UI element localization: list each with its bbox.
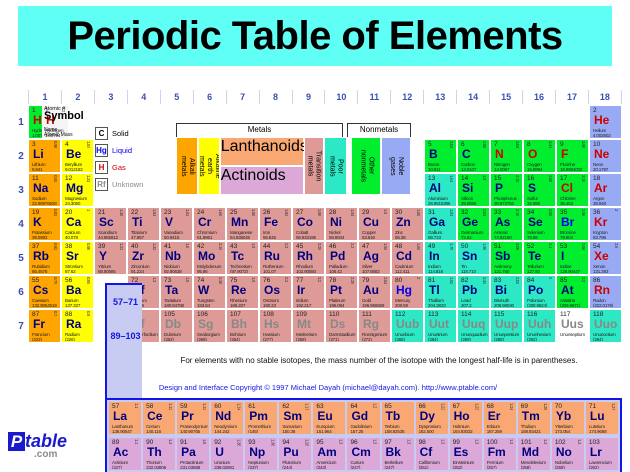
element-mass: 83.798 xyxy=(593,235,606,240)
element-cell-Ce[interactable]: 581.12CeCerium140.116 xyxy=(143,402,175,434)
fblock-slot: 601.14NdNeodymium144.242 xyxy=(210,401,244,435)
ptable-logo[interactable]: P table .com xyxy=(8,430,98,464)
period-number-6[interactable]: 6 xyxy=(14,275,28,309)
element-symbol: Ds xyxy=(330,318,345,331)
element-symbol: Cs xyxy=(33,284,48,297)
legend-swatch-other-nonmetals[interactable]: Other nonmetals xyxy=(351,137,381,195)
legend-swatch-noble-gases[interactable]: Noble gases xyxy=(381,137,411,195)
grid-slot: 342.55SeSelenium78.96 xyxy=(523,207,556,241)
legend-swatch-lanth-actin-group: Lanthanoids Actinoids xyxy=(220,137,304,195)
period-number-1[interactable]: 1 xyxy=(14,105,28,139)
element-cell-Te[interactable]: 522.1TeTellurium127.60 xyxy=(524,242,555,274)
element-cell-Bk[interactable]: 971.3BkBerkelium(247) xyxy=(382,438,414,470)
element-cell-W[interactable]: 742.36WTungsten183.84 xyxy=(194,276,225,308)
element-symbol: Tb xyxy=(386,410,401,423)
element-electronegativity: 1.3 xyxy=(543,439,548,444)
element-symbol: Uus xyxy=(561,318,584,331)
element-symbol: Cf xyxy=(420,446,433,459)
element-mass: (294) xyxy=(593,337,603,342)
element-cell-Se[interactable]: 342.55SeSelenium78.96 xyxy=(524,208,555,240)
element-cell-Dy[interactable]: 661.22DyDysprosium162.500 xyxy=(416,402,448,434)
element-symbol: U xyxy=(215,446,224,459)
element-cell-Kr[interactable]: 363KrKrypton83.798 xyxy=(590,208,621,240)
element-cell-Xe[interactable]: 542.6XeXenon131.293 xyxy=(590,242,621,274)
element-cell-Tb[interactable]: 65TbTerbium158.92535 xyxy=(382,402,414,434)
grid-slot: 370.82RbRubidium85.4678 xyxy=(28,241,61,275)
element-cell-Fr[interactable]: 870.7FrFrancium(223) xyxy=(29,310,60,342)
element-mass: (257) xyxy=(487,465,497,470)
element-symbol: Ag xyxy=(363,250,379,263)
element-symbol: Sm xyxy=(283,410,302,423)
element-cell-P[interactable]: 152.19PPhosphorus30.973762 xyxy=(491,174,522,206)
element-cell-Be[interactable]: 41.57BeBeryllium9.012182 xyxy=(62,140,93,172)
element-cell-Mo[interactable]: 422.16MoMolybdenum95.96 xyxy=(194,242,225,274)
element-symbol: Ti xyxy=(132,216,142,229)
state-legend-row-liquid[interactable]: HgLiquid xyxy=(95,142,157,159)
element-mass: 63.546 xyxy=(362,235,375,240)
element-cell-Db[interactable]: 105DbDubnium(262) xyxy=(161,310,192,342)
element-cell-Sb[interactable]: 512.05SbAntimony121.760 xyxy=(491,242,522,274)
element-electronegativity: 1.6 xyxy=(185,243,190,248)
element-cell-Tl[interactable]: 811.62TlThallium204.3833 xyxy=(425,276,456,308)
period-number-7[interactable]: 7 xyxy=(14,309,28,343)
grid-slot: 115UupUnunpentium(288) xyxy=(490,309,523,343)
element-cell-Pb[interactable]: 822.33PbLead207.2 xyxy=(458,276,489,308)
fblock-slot: 711.27LuLutetium174.9668 xyxy=(585,401,619,435)
element-cell-Uut[interactable]: 113UutUnuntrium(284) xyxy=(425,310,456,342)
element-cell-Br[interactable]: 352.96BrBromine79.904 xyxy=(557,208,588,240)
element-electronegativity: 1.23 xyxy=(475,403,480,410)
element-cell-Rb[interactable]: 370.82RbRubidium85.4678 xyxy=(29,242,60,274)
group-number-1[interactable]: 1 xyxy=(28,90,61,104)
element-electronegativity: 1.17 xyxy=(304,403,309,410)
element-cell-Ag[interactable]: 471.93AgSilver107.8682 xyxy=(359,242,390,274)
legend-swatch-alkali-metals[interactable]: Alkali metals xyxy=(176,137,198,195)
element-cell-Er[interactable]: 681.24ErErbium167.259 xyxy=(484,402,516,434)
element-electronegativity: 3.16 xyxy=(581,175,586,182)
element-mass: 91.224 xyxy=(131,269,144,274)
grid-slot: 560.89BaBarium137.327 xyxy=(61,275,94,309)
element-electronegativity: 2 xyxy=(548,277,553,279)
element-cell-Uub[interactable]: 112UubUnunbium(285) xyxy=(392,310,423,342)
fblock-slot: 941.28PuPlutonium(244) xyxy=(278,437,312,471)
metals-header: Metals xyxy=(176,123,343,137)
element-cell-Rh[interactable]: 452.28RhRhodium102.90550 xyxy=(293,242,324,274)
category-legend-swatches: Alkali metals Alkaline earth metals Lant… xyxy=(176,137,411,195)
element-cell-Na[interactable]: 110.93NaSodium22.98976928 xyxy=(29,174,60,206)
grid-slot: 462.2PdPalladium106.42 xyxy=(325,241,358,275)
element-cell-As[interactable]: 332.18AsArsenic74.92160 xyxy=(491,208,522,240)
fblock-slot: 671.23HoHolmium164.93032 xyxy=(449,401,483,435)
element-electronegativity: 1.9 xyxy=(251,277,256,282)
element-cell-Ba[interactable]: 560.89BaBarium137.327 xyxy=(62,276,93,308)
grid-slot: 105DbDubnium(262) xyxy=(160,309,193,343)
grid-slot: 221.54TiTitanium47.867 xyxy=(127,207,160,241)
element-cell-Bi[interactable]: 832.02BiBismuth208.98040 xyxy=(491,276,522,308)
element-symbol: Re xyxy=(231,284,246,297)
element-symbol: Pm xyxy=(249,410,268,423)
fblock-slot: 661.22DyDysprosium162.500 xyxy=(415,401,449,435)
empty-cell xyxy=(425,106,456,138)
legend-swatch-lanthanoids[interactable]: Lanthanoids xyxy=(220,137,304,166)
element-cell-Ti[interactable]: 221.54TiTitanium47.867 xyxy=(128,208,159,240)
element-mass: (227) xyxy=(112,465,122,470)
element-cell-Si[interactable]: 141.9SiSilicon28.0855 xyxy=(458,174,489,206)
fblock-slot: 61PmPromethium(145) xyxy=(244,401,278,435)
element-cell-Fe[interactable]: 261.83FeIron55.845 xyxy=(260,208,291,240)
element-electronegativity: 1.22 xyxy=(441,403,446,410)
period-row-4: 4190.82KPotassium39.0983201CaCalcium40.0… xyxy=(14,207,622,241)
element-cell-Co[interactable]: 271.88CoCobalt58.933195 xyxy=(293,208,324,240)
group-number-11[interactable]: 11 xyxy=(357,90,390,104)
fblock-slot: 571.1LaLanthanum138.90547 xyxy=(108,401,142,435)
element-mass: 39.948 xyxy=(593,201,606,206)
element-cell-Cd[interactable]: 481.69CdCadmium112.411 xyxy=(392,242,423,274)
group-number-14[interactable]: 14 xyxy=(456,90,489,104)
element-mass: 22.98976928 xyxy=(32,201,57,206)
element-electronegativity: 1.62 xyxy=(449,277,454,284)
element-mass: (244) xyxy=(282,465,292,470)
state-legend-row-unknown[interactable]: RfUnknown xyxy=(95,176,157,193)
element-cell-Tm[interactable]: 691.25TmThulium168.93421 xyxy=(518,402,550,434)
group-number-6[interactable]: 6 xyxy=(193,90,226,104)
element-mass: 102.90550 xyxy=(296,269,316,274)
element-symbol: Br xyxy=(561,216,574,229)
element-symbol: Pr xyxy=(181,410,194,423)
element-electronegativity: 0.9 xyxy=(86,311,91,316)
element-cell-Sm[interactable]: 621.17SmSamarium150.36 xyxy=(279,402,311,434)
grid-slot: 802HgMercury200.59 xyxy=(391,275,424,309)
grid-slot: 792.54AuGold196.966569 xyxy=(358,275,391,309)
element-cell-Ca[interactable]: 201CaCalcium40.078 xyxy=(62,208,93,240)
element-electronegativity: 1.36 xyxy=(270,439,275,446)
grid-slot: 411.6NbNiobium92.90638 xyxy=(160,241,193,275)
element-cell-Sc[interactable]: 211.36ScScandium44.955912 xyxy=(95,208,126,240)
element-cell-Zn[interactable]: 301.65ZnZinc65.38 xyxy=(392,208,423,240)
element-cell-Nd[interactable]: 601.14NdNeodymium144.242 xyxy=(211,402,243,434)
element-cell-Hg[interactable]: 802HgMercury200.59 xyxy=(392,276,423,308)
element-cell-Au[interactable]: 792.54AuGold196.966569 xyxy=(359,276,390,308)
group-number-16[interactable]: 16 xyxy=(522,90,555,104)
grid-slot: 281.91NiNickel58.6934 xyxy=(325,207,358,241)
element-cell-Pd[interactable]: 462.2PdPalladium106.42 xyxy=(326,242,357,274)
element-symbol: Rg xyxy=(363,318,379,331)
element-cell-U[interactable]: 921.38UUranium238.02891 xyxy=(211,438,243,470)
element-cell-Pu[interactable]: 941.28PuPlutonium(244) xyxy=(279,438,311,470)
element-electronegativity: 1.38 xyxy=(236,439,241,446)
grid-slot: 261.83FeIron55.845 xyxy=(259,207,292,241)
group-number-12[interactable]: 12 xyxy=(390,90,423,104)
element-cell-Y[interactable]: 391.22YYttrium88.90585 xyxy=(95,242,126,274)
element-symbol: Be xyxy=(66,148,81,161)
element-cell-Ne[interactable]: 10NeNeon20.1797 xyxy=(590,140,621,172)
element-cell-Nb[interactable]: 411.6NbNiobium92.90638 xyxy=(161,242,192,274)
element-cell-Np[interactable]: 931.36NpNeptunium(237) xyxy=(245,438,277,470)
element-cell-F[interactable]: 93.98FFluorine18.9984032 xyxy=(557,140,588,172)
element-cell-Ni[interactable]: 281.91NiNickel58.6934 xyxy=(326,208,357,240)
element-cell-Po[interactable]: 842PoPolonium(208.9824) xyxy=(524,276,555,308)
element-cell-N[interactable]: 73.04NNitrogen14.0067 xyxy=(491,140,522,172)
element-mass: 24.3050 xyxy=(65,201,80,206)
grid-slot: 842PoPolonium(208.9824) xyxy=(523,275,556,309)
grid-slot: 291.9CuCopper63.546 xyxy=(358,207,391,241)
element-cell-C[interactable]: 62.55CCarbon12.0107 xyxy=(458,140,489,172)
element-cell-Re[interactable]: 751.9ReRhenium186.207 xyxy=(227,276,258,308)
group-number-13[interactable]: 13 xyxy=(423,90,456,104)
legend-swatch-poor-metals[interactable]: Poor metals xyxy=(324,137,348,195)
element-cell-Uup[interactable]: 115UupUnunpentium(288) xyxy=(491,310,522,342)
element-cell-Ra[interactable]: 880.9RaRadium(226) xyxy=(62,310,93,342)
period-number-4[interactable]: 4 xyxy=(14,207,28,241)
period-number-3[interactable]: 3 xyxy=(14,173,28,207)
element-symbol: Pd xyxy=(330,250,345,263)
element-mass: 15.9994 xyxy=(527,167,542,172)
element-electronegativity: 0.89 xyxy=(86,277,91,284)
element-cell-Uuo[interactable]: 118UuoUnunoctium(294) xyxy=(590,310,621,342)
element-cell-Lr[interactable]: 103LrLawrencium(262) xyxy=(586,438,618,470)
element-symbol: Rn xyxy=(594,284,610,297)
empty-cell xyxy=(491,106,522,138)
period-number-2[interactable]: 2 xyxy=(14,139,28,173)
grid-slot: 73.04NNitrogen14.0067 xyxy=(490,139,523,173)
element-cell-Ho[interactable]: 671.23HoHolmium164.93032 xyxy=(450,402,482,434)
grid-slot: 731.5TaTantalum180.94788 xyxy=(160,275,193,309)
element-mass: (208.9824) xyxy=(527,303,547,308)
element-electronegativity: 2.33 xyxy=(482,277,487,284)
element-cell-Md[interactable]: 1011.3MdMendelevium(258) xyxy=(518,438,550,470)
element-symbol: Fr xyxy=(33,318,45,331)
element-cell-Al[interactable]: 131.61AlAluminium26.9815386 xyxy=(425,174,456,206)
element-electronegativity: 1.14 xyxy=(236,403,241,410)
element-electronegativity: 2.2 xyxy=(284,277,289,282)
element-cell-Gd[interactable]: 641.2GdGadolinium157.25 xyxy=(347,402,379,434)
element-cell-Es[interactable]: 991.3EsEinsteinium(252) xyxy=(450,438,482,470)
element-cell-O[interactable]: 83.44OOxygen15.9994 xyxy=(524,140,555,172)
state-legend-row-solid[interactable]: CSolid xyxy=(95,125,157,142)
grid-slot: 93.98FFluorine18.9984032 xyxy=(556,139,589,173)
element-cell-Pa[interactable]: 911.5PaProtactinium231.03588 xyxy=(177,438,209,470)
grid-slot: 522.1TeTellurium127.60 xyxy=(523,241,556,275)
element-symbol: S xyxy=(528,182,536,195)
fblock-slot: 971.3BkBerkelium(247) xyxy=(381,437,415,471)
element-electronegativity: 1.65 xyxy=(416,209,421,216)
element-symbol: Ru xyxy=(264,250,280,263)
element-cell-He[interactable]: 2HeHelium4.002602 xyxy=(590,106,621,138)
legend-swatch-alkaline-earth-metals[interactable]: Alkaline earth metals xyxy=(198,137,220,195)
element-symbol: Hg xyxy=(396,284,412,297)
element-mass: 173.054 xyxy=(555,429,570,434)
actinoid-row: 891.1AcActinium(227)901.3ThThorium232.03… xyxy=(107,436,620,472)
empty-cell xyxy=(557,106,588,138)
grid-slot: 113UutUnuntrium(284) xyxy=(424,309,457,343)
element-mass: 47.867 xyxy=(131,235,144,240)
element-cell-Cm[interactable]: 961.3CmCurium(247) xyxy=(347,438,379,470)
element-mass: 195.084 xyxy=(329,303,344,308)
element-cell-Ga[interactable]: 311.81GaGallium69.723 xyxy=(425,208,456,240)
element-cell-Zr[interactable]: 401.33ZrZirconium91.224 xyxy=(128,242,159,274)
grid-slot: 112UubUnunbium(285) xyxy=(391,309,424,343)
element-cell-Cl[interactable]: 173.16ClChlorine35.453 xyxy=(557,174,588,206)
element-mass: 74.92160 xyxy=(494,235,512,240)
element-symbol: Bi xyxy=(495,284,507,297)
state-legend-glyph: Hg xyxy=(95,144,108,157)
element-cell-La[interactable]: 571.1LaLanthanum138.90547 xyxy=(109,402,141,434)
group-number-2[interactable]: 2 xyxy=(61,90,94,104)
element-cell-Am[interactable]: 951.3AmAmericium(243) xyxy=(313,438,345,470)
element-cell-Pm[interactable]: 61PmPromethium(145) xyxy=(245,402,277,434)
period-row-5: 5370.82RbRubidium85.4678380.95SrStrontiu… xyxy=(14,241,622,275)
element-cell-Bh[interactable]: 107BhBohrium(264) xyxy=(227,310,258,342)
element-cell-Yb[interactable]: 70YbYtterbium173.054 xyxy=(552,402,584,434)
element-cell-S[interactable]: 162.58SSulfur32.065 xyxy=(524,174,555,206)
group-number-5[interactable]: 5 xyxy=(160,90,193,104)
element-mass: 126.90447 xyxy=(560,269,580,274)
element-symbol: Li xyxy=(33,148,44,161)
title-banner: Periodic Table of Elements xyxy=(18,6,612,66)
element-cell-Cu[interactable]: 291.9CuCopper63.546 xyxy=(359,208,390,240)
group-number-17[interactable]: 17 xyxy=(555,90,588,104)
element-cell-I[interactable]: 532.66IIodine126.90447 xyxy=(557,242,588,274)
element-symbol: F xyxy=(561,148,568,161)
element-cell-Ac[interactable]: 891.1AcActinium(227) xyxy=(109,438,141,470)
placeholder-lanthanoid[interactable]: 57–71 xyxy=(107,285,144,319)
element-cell-Sg[interactable]: 106SgSeaborgium(266) xyxy=(194,310,225,342)
element-cell-Eu[interactable]: 63EuEuropium151.964 xyxy=(313,402,345,434)
element-electronegativity: 1.9 xyxy=(383,209,388,214)
group-number-8[interactable]: 8 xyxy=(259,90,292,104)
element-electronegativity: 2.05 xyxy=(515,243,520,250)
copyright-line[interactable]: Design and Interface Copyright © 1997 Mi… xyxy=(118,383,538,392)
element-mass: (243) xyxy=(316,465,326,470)
state-legend: CSolidHgLiquidHGasRfUnknown xyxy=(95,125,157,193)
element-cell-Ar[interactable]: 18ArArgon39.948 xyxy=(590,174,621,206)
element-cell-B[interactable]: 52.04BBoron10.811 xyxy=(425,140,456,172)
element-cell-In[interactable]: 491.78InIndium114.818 xyxy=(425,242,456,274)
element-symbol: He xyxy=(594,114,609,127)
element-cell-Ge[interactable]: 322.01GeGermanium72.64 xyxy=(458,208,489,240)
element-cell-Lu[interactable]: 711.27LuLutetium174.9668 xyxy=(586,402,618,434)
element-symbol: W xyxy=(198,284,209,297)
element-symbol: Bk xyxy=(386,446,401,459)
element-cell-No[interactable]: 1021.3NoNobelium(259) xyxy=(552,438,584,470)
element-cell-Os[interactable]: 762.2OsOsmium190.23 xyxy=(260,276,291,308)
element-cell-Li[interactable]: 30.98LiLithium6.941 xyxy=(29,140,60,172)
element-cell-Sr[interactable]: 380.95SrStrontium87.62 xyxy=(62,242,93,274)
element-symbol: Ga xyxy=(429,216,445,229)
element-mass: 118.710 xyxy=(461,269,476,274)
group-number-7[interactable]: 7 xyxy=(226,90,259,104)
element-symbol: Tl xyxy=(429,284,440,297)
element-cell-Pr[interactable]: 591.13PrPraseodymium140.90765 xyxy=(177,402,209,434)
element-symbol: Hs xyxy=(264,318,279,331)
element-cell-Cf[interactable]: 981.3CfCalifornium(251) xyxy=(416,438,448,470)
element-cell-K[interactable]: 190.82KPotassium39.0983 xyxy=(29,208,60,240)
element-cell-Ru[interactable]: 442.2RuRuthenium101.07 xyxy=(260,242,291,274)
legend-swatch-actinoids[interactable]: Actinoids xyxy=(220,166,304,195)
element-cell-Ta[interactable]: 731.5TaTantalum180.94788 xyxy=(161,276,192,308)
element-electronegativity: 1.36 xyxy=(119,209,124,216)
group-number-10[interactable]: 10 xyxy=(324,90,357,104)
element-mass: 132.9054519 xyxy=(32,303,57,308)
period-number-5[interactable]: 5 xyxy=(14,241,28,275)
element-cell-V[interactable]: 231.63VVanadium50.9415 xyxy=(161,208,192,240)
element-cell-Uuh[interactable]: 116UuhUnunhexium(292) xyxy=(524,310,555,342)
empty-cell xyxy=(458,106,489,138)
element-cell-Mn[interactable]: 251.55MnManganese54.938045 xyxy=(227,208,258,240)
grid-slot: 131.61AlAluminium26.9815386 xyxy=(424,173,457,207)
element-symbol: Os xyxy=(264,284,280,297)
element-cell-Hs[interactable]: 108HsHassium(277) xyxy=(260,310,291,342)
element-symbol: Dy xyxy=(420,410,435,423)
grid-slot: 41.57BeBeryllium9.012182 xyxy=(61,139,94,173)
element-cell-Th[interactable]: 901.3ThThorium232.03806 xyxy=(143,438,175,470)
element-cell-Ir[interactable]: 772.2IrIridium192.217 xyxy=(293,276,324,308)
element-mass: 144.242 xyxy=(214,429,229,434)
logo-tld: .com xyxy=(34,449,57,460)
element-mass: 79.904 xyxy=(560,235,573,240)
group-number-18[interactable]: 18 xyxy=(588,90,622,104)
element-mass: (252) xyxy=(453,465,463,470)
placeholder-actinoid[interactable]: 89–103 xyxy=(107,319,144,353)
fblock-slot: 691.25TmThulium168.93421 xyxy=(517,401,551,435)
group-number-15[interactable]: 15 xyxy=(489,90,522,104)
state-legend-row-gas[interactable]: HGas xyxy=(95,159,157,176)
element-mass: 232.03806 xyxy=(146,465,166,470)
element-cell-Ds[interactable]: 110DsDarmstadtium(271) xyxy=(326,310,357,342)
element-symbol: Rh xyxy=(297,250,313,263)
element-electronegativity: 1.91 xyxy=(350,209,355,216)
element-cell-Uuq[interactable]: 114UuqUnunquadium(289) xyxy=(458,310,489,342)
element-cell-Sn[interactable]: 501.96SnTin118.710 xyxy=(458,242,489,274)
element-cell-Cs[interactable]: 550.79CsCaesium132.9054519 xyxy=(29,276,60,308)
element-cell-Rg[interactable]: 111RgRoentgenium(272) xyxy=(359,310,390,342)
element-mass: 162.500 xyxy=(419,429,434,434)
element-mass: (209.9871) xyxy=(560,303,580,308)
fblock-panel: 571.1LaLanthanum138.90547581.12CeCerium1… xyxy=(105,398,622,472)
element-cell-Mg[interactable]: 121.31MgMagnesium24.3050 xyxy=(62,174,93,206)
element-electronegativity: 0.98 xyxy=(53,141,58,148)
element-cell-At[interactable]: 852.2AtAstatine(209.9871) xyxy=(557,276,588,308)
element-symbol: Eu xyxy=(317,410,332,423)
grid-slot: 271.88CoCobalt58.933195 xyxy=(292,207,325,241)
group-number-4[interactable]: 4 xyxy=(127,90,160,104)
element-cell-Tc[interactable]: 431.9TcTechnetium(97.9072) xyxy=(227,242,258,274)
element-cell-Uus[interactable]: 117UusUnunseptium xyxy=(557,310,588,342)
element-symbol: Ge xyxy=(462,216,478,229)
element-electronegativity: 1.3 xyxy=(509,439,514,444)
element-cell-Fm[interactable]: 1001.3FmFermium(257) xyxy=(484,438,516,470)
element-symbol: Al xyxy=(429,182,441,195)
element-symbol: Bh xyxy=(231,318,247,331)
element-cell-Cr[interactable]: 241.66CrChromium51.9961 xyxy=(194,208,225,240)
element-cell-Mt[interactable]: 109MtMeitnerium(268) xyxy=(293,310,324,342)
grid-slot: 118UuoUnunoctium(294) xyxy=(589,309,622,343)
element-electronegativity: 1.5 xyxy=(202,439,207,444)
element-electronegativity: 3.98 xyxy=(581,141,586,148)
element-electronegativity: 1.61 xyxy=(449,175,454,182)
element-cell-Rn[interactable]: 86RnRadon(222.0176) xyxy=(590,276,621,308)
element-symbol: Xe xyxy=(594,250,609,263)
group-number-9[interactable]: 9 xyxy=(292,90,325,104)
element-mass: 127.60 xyxy=(527,269,540,274)
element-cell-Pt[interactable]: 782.28PtPlatinum195.084 xyxy=(326,276,357,308)
grid-slot: 762.2OsOsmium190.23 xyxy=(259,275,292,309)
group-number-3[interactable]: 3 xyxy=(94,90,127,104)
element-symbol: Md xyxy=(522,446,539,459)
legend-swatch-transition-metals[interactable]: Transition metals xyxy=(304,137,324,195)
element-electronegativity: 1.3 xyxy=(475,439,480,444)
element-symbol: O xyxy=(528,148,537,161)
